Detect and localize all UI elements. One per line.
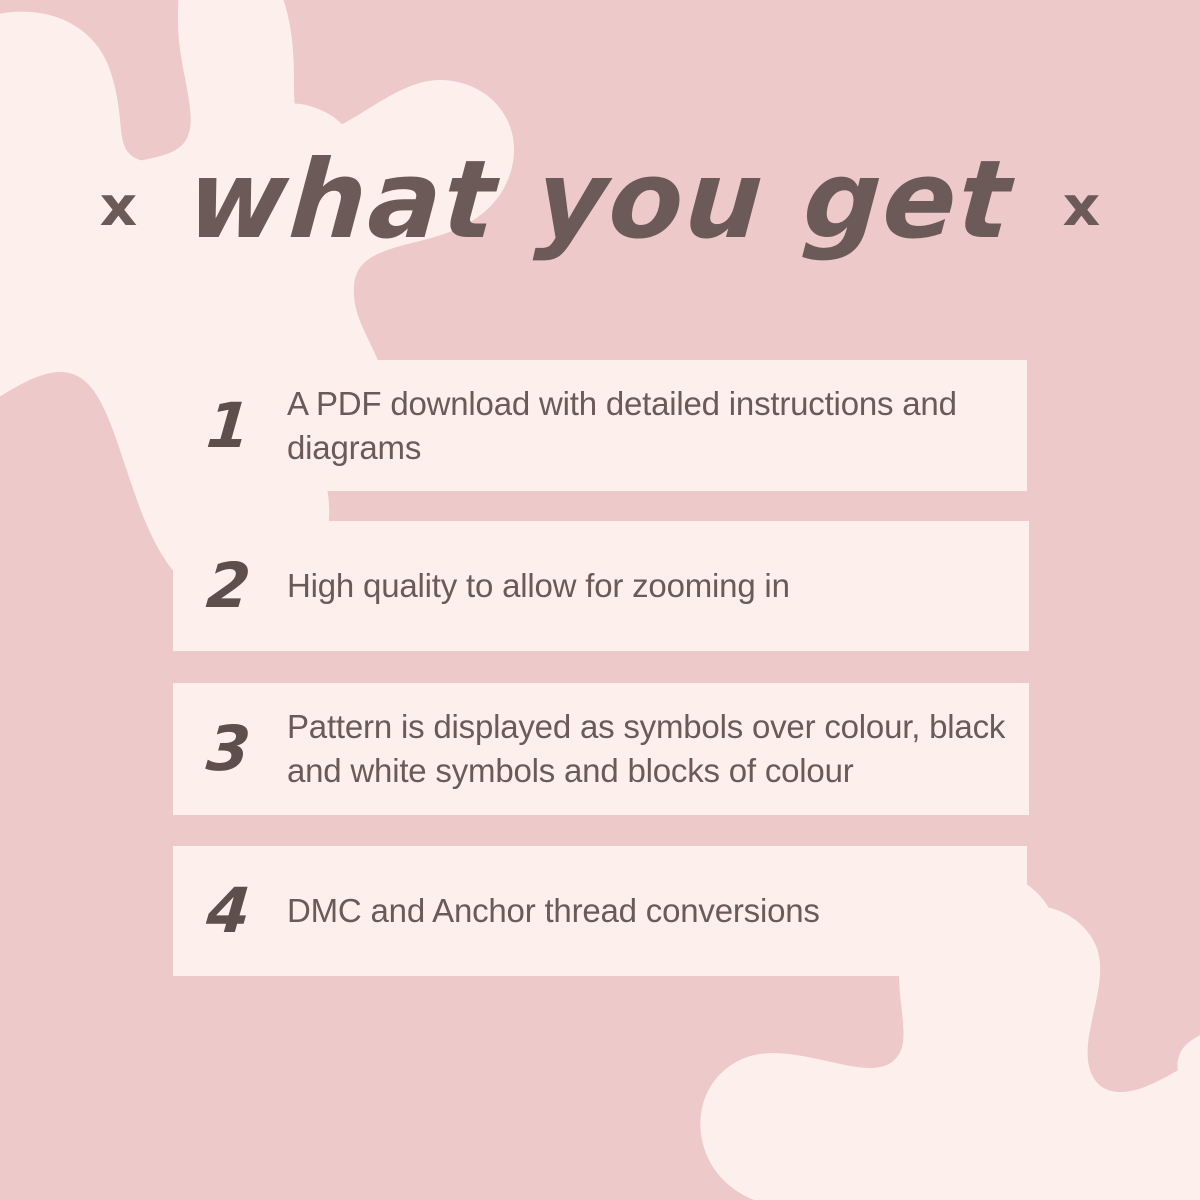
list-item-number: 2 — [198, 555, 289, 617]
list-item-text: High quality to allow for zooming in — [287, 564, 1007, 608]
list-item-number: 1 — [198, 395, 289, 457]
x-mark-icon-right: x — [1063, 180, 1101, 234]
page-title: what you get — [184, 147, 1016, 255]
list-item-number: 3 — [198, 718, 289, 780]
list-item: 4 DMC and Anchor thread conversions — [173, 846, 1027, 976]
benefits-list: 1 A PDF download with detailed instructi… — [173, 360, 1029, 976]
page-header: x what you get x — [0, 108, 1200, 293]
list-item-text: A PDF download with detailed instruction… — [287, 382, 1005, 470]
list-item: 2 High quality to allow for zooming in — [173, 521, 1029, 651]
list-item-number: 4 — [198, 880, 289, 942]
x-mark-icon-left: x — [100, 180, 138, 234]
list-item: 3 Pattern is displayed as symbols over c… — [173, 683, 1029, 815]
poster-canvas: x what you get x 1 A PDF download with d… — [0, 0, 1200, 1200]
cross-blob-bottom-right-small-icon — [1177, 1024, 1200, 1160]
list-item-text: DMC and Anchor thread conversions — [287, 889, 1005, 933]
list-item: 1 A PDF download with detailed instructi… — [173, 360, 1027, 491]
list-item-text: Pattern is displayed as symbols over col… — [287, 705, 1007, 793]
